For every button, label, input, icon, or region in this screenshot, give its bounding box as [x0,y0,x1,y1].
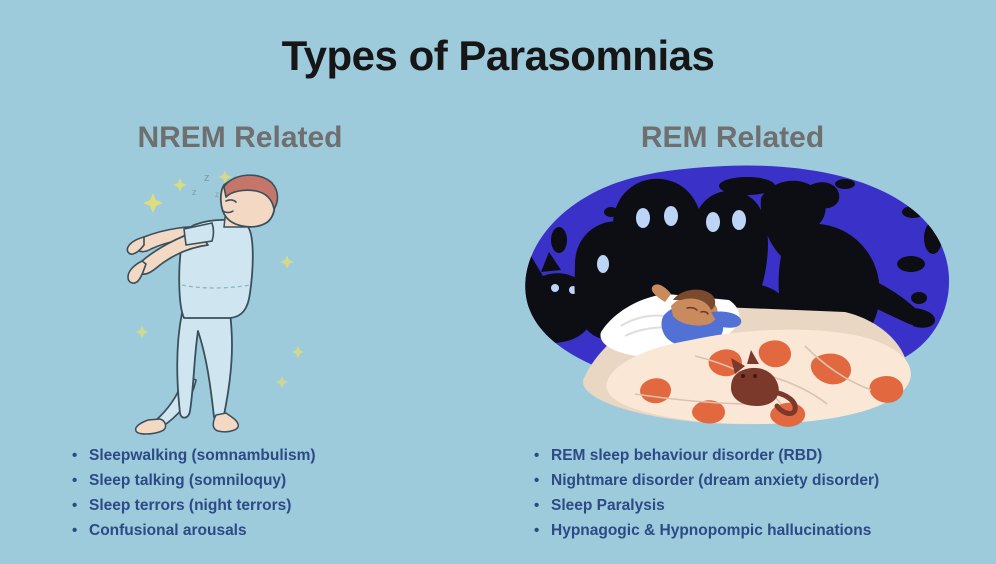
blotch [835,179,855,189]
column-heading-nrem: NREM Related [95,121,385,155]
infographic-canvas: Types of Parasomnias NREM Related REM Re… [0,0,996,564]
blotch [551,227,567,253]
blotch [897,256,925,272]
svg-text:z: z [215,190,219,199]
sleepwalking-person-illustration: z z z [120,165,320,430]
nightmare-sleeper-with-shadow-figures-illustration [515,160,955,430]
hand-front [128,261,146,283]
list-item: Confusional arousals [72,518,316,543]
bullet-list-nrem: Sleepwalking (somnambulism) Sleep talkin… [72,443,316,543]
page-title: Types of Parasomnias [0,32,996,80]
column-heading-rem: REM Related [600,121,865,155]
foot-back [136,419,166,434]
list-item: Sleepwalking (somnambulism) [72,443,316,468]
list-item: Nightmare disorder (dream anxiety disord… [534,468,879,493]
list-item: Sleep talking (somniloquy) [72,468,316,493]
svg-text:z: z [192,187,197,197]
list-item: Sleep Paralysis [534,493,879,518]
list-item: Sleep terrors (night terrors) [72,493,316,518]
blotch [911,292,927,304]
bullet-list-rem: REM sleep behaviour disorder (RBD) Night… [534,443,879,543]
svg-text:z: z [204,172,210,184]
blotch [902,206,924,218]
list-item: Hypnagogic & Hypnopompic hallucinations [534,518,879,543]
list-item: REM sleep behaviour disorder (RBD) [534,443,879,468]
legs [177,313,232,422]
blotch [924,222,942,254]
foot-front [213,413,238,432]
